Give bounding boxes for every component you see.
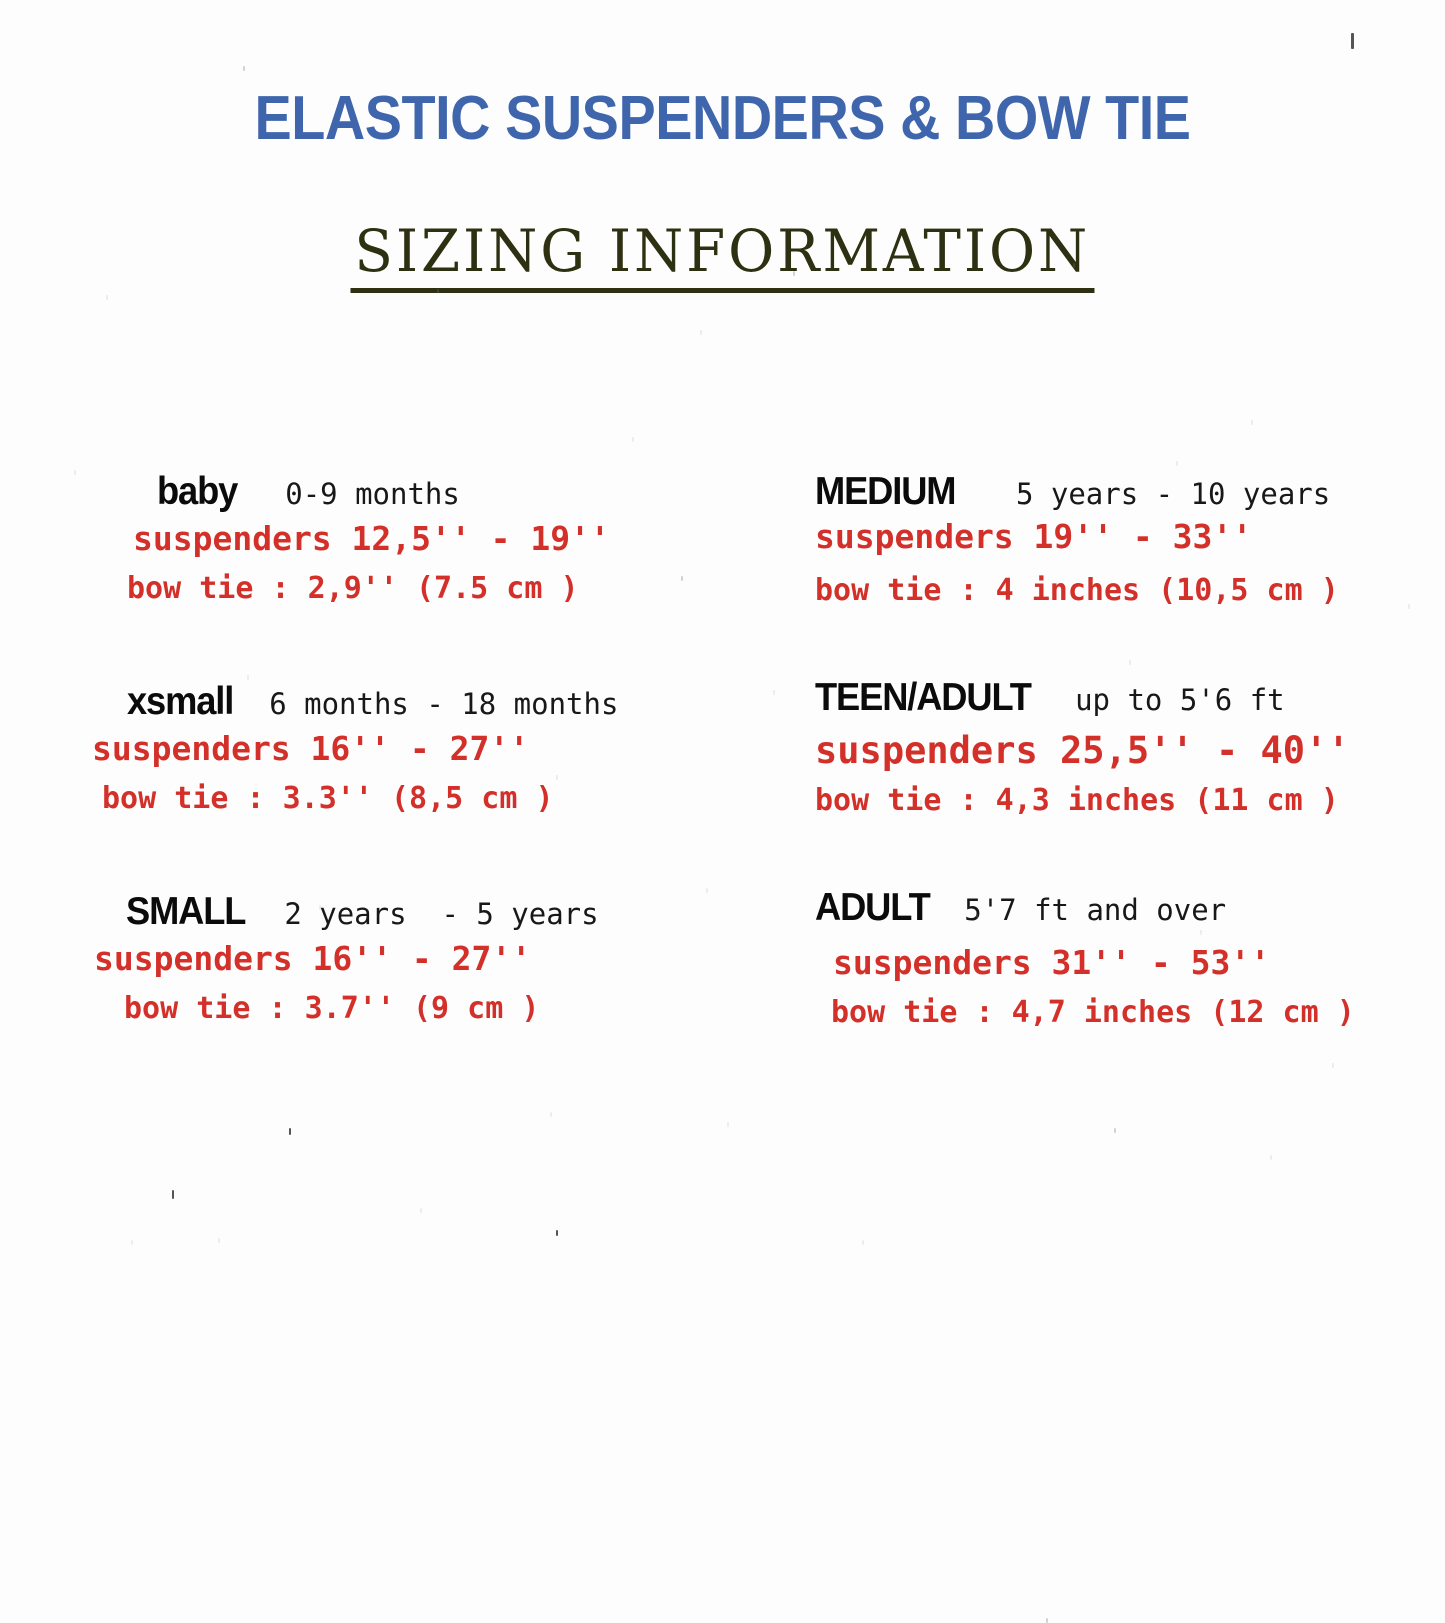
size-block-medium: MEDIUM 5 years - 10 years suspenders 19'… <box>815 470 1445 616</box>
left-column: baby 0-9 months suspenders 12,5'' - 19''… <box>0 470 790 1038</box>
size-headline: TEEN/ADULT up to 5'6 ft <box>815 676 1445 722</box>
right-column: MEDIUM 5 years - 10 years suspenders 19'… <box>790 470 1445 1038</box>
bowtie-measurement: bow tie : 4 inches (10,5 cm ) <box>815 566 1445 616</box>
age-range: 6 months - 18 months <box>241 682 618 726</box>
bowtie-measurement: bow tie : 4,7 inches (12 cm ) <box>815 988 1445 1038</box>
page-title: ELASTIC SUSPENDERS & BOW TIE <box>72 0 1373 150</box>
age-range: 5'7 ft and over <box>938 888 1226 932</box>
size-headline: xsmall 6 months - 18 months <box>92 680 790 726</box>
size-headline: SMALL 2 years - 5 years <box>92 890 790 936</box>
sizing-chart: baby 0-9 months suspenders 12,5'' - 19''… <box>0 470 1445 1038</box>
suspenders-measurement: suspenders 25,5'' - 40'' <box>815 726 1445 776</box>
size-headline: ADULT 5'7 ft and over <box>815 886 1445 932</box>
subtitle-container: SIZING INFORMATION <box>0 172 1445 341</box>
age-range: 2 years - 5 years <box>254 892 598 936</box>
size-label: MEDIUM <box>815 470 955 514</box>
bowtie-measurement: bow tie : 4,3 inches (11 cm ) <box>815 776 1445 826</box>
size-label: xsmall <box>127 680 233 724</box>
size-label: SMALL <box>126 890 245 934</box>
suspenders-measurement: suspenders 31'' - 53'' <box>815 938 1445 988</box>
age-range: up to 5'6 ft <box>1047 678 1285 722</box>
suspenders-measurement: suspenders 12,5'' - 19'' <box>92 514 790 564</box>
size-block-baby: baby 0-9 months suspenders 12,5'' - 19''… <box>92 470 790 614</box>
suspenders-measurement: suspenders 16'' - 27'' <box>92 724 790 774</box>
suspenders-measurement: suspenders 16'' - 27'' <box>92 934 790 984</box>
size-label: ADULT <box>815 886 930 930</box>
size-block-teen-adult: TEEN/ADULT up to 5'6 ft suspenders 25,5'… <box>815 676 1445 826</box>
size-label: baby <box>157 470 237 514</box>
bowtie-measurement: bow tie : 3.7'' (9 cm ) <box>92 984 790 1034</box>
size-block-adult: ADULT 5'7 ft and over suspenders 31'' - … <box>815 886 1445 1038</box>
bowtie-measurement: bow tie : 3.3'' (8,5 cm ) <box>92 774 790 824</box>
bowtie-measurement: bow tie : 2,9'' (7.5 cm ) <box>92 564 790 614</box>
size-label: TEEN/ADULT <box>815 676 1031 720</box>
age-range: 0-9 months <box>243 472 460 516</box>
page-subtitle: SIZING INFORMATION <box>351 220 1095 293</box>
size-block-xsmall: xsmall 6 months - 18 months suspenders 1… <box>92 680 790 824</box>
size-block-small: SMALL 2 years - 5 years suspenders 16'' … <box>92 890 790 1034</box>
suspenders-measurement: suspenders 19'' - 33'' <box>815 512 1445 562</box>
size-headline: baby 0-9 months <box>92 470 790 516</box>
page-header: ELASTIC SUSPENDERS & BOW TIE SIZING INFO… <box>0 0 1445 341</box>
size-headline: MEDIUM 5 years - 10 years <box>815 470 1445 516</box>
age-range: 5 years - 10 years <box>966 472 1330 516</box>
